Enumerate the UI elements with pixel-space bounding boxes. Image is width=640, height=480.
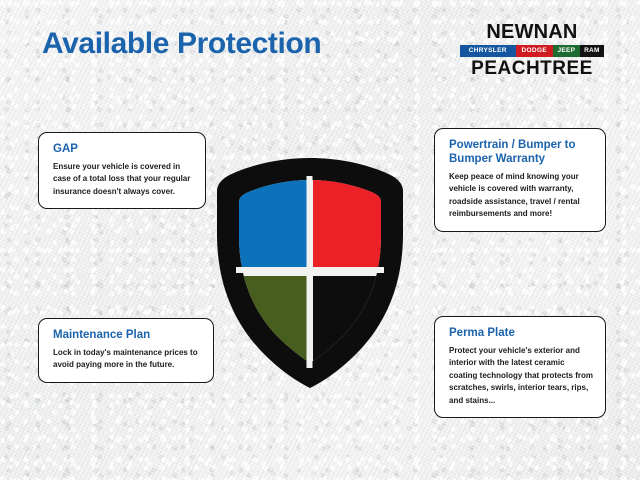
logo-name-top: NEWNAN — [460, 22, 604, 42]
card-gap-title: GAP — [53, 142, 194, 156]
card-powertrain-warranty: Powertrain / Bumper to Bumper Warranty K… — [434, 128, 606, 232]
slide-canvas: Available Protection NEWNAN CHRYSLER DOD… — [0, 0, 640, 480]
logo-name-bottom: PEACHTREE — [460, 59, 604, 78]
card-permaplate-title: Perma Plate — [449, 326, 594, 340]
page-title: Available Protection — [42, 27, 321, 61]
card-gap-body: Ensure your vehicle is covered in case o… — [53, 161, 194, 198]
card-maintenance-title: Maintenance Plan — [53, 328, 202, 342]
card-powertrain-body: Keep peace of mind knowing your vehicle … — [449, 171, 594, 221]
card-maintenance-body: Lock in today's maintenance prices to av… — [53, 347, 202, 372]
card-permaplate-body: Protect your vehicle's exterior and inte… — [449, 345, 594, 407]
brand-chrysler: CHRYSLER — [460, 45, 516, 57]
brand-dodge: DODGE — [516, 45, 553, 57]
brand-strip: CHRYSLER DODGE JEEP RAM — [460, 45, 604, 57]
card-perma-plate: Perma Plate Protect your vehicle's exter… — [434, 316, 606, 418]
card-gap: GAP Ensure your vehicle is covered in ca… — [38, 132, 206, 209]
brand-jeep: JEEP — [553, 45, 580, 57]
shield-icon — [212, 156, 408, 390]
brand-ram: RAM — [580, 45, 604, 57]
card-powertrain-title: Powertrain / Bumper to Bumper Warranty — [449, 138, 594, 166]
card-maintenance-plan: Maintenance Plan Lock in today's mainten… — [38, 318, 214, 383]
dealer-logo: NEWNAN CHRYSLER DODGE JEEP RAM PEACHTREE — [460, 22, 604, 78]
